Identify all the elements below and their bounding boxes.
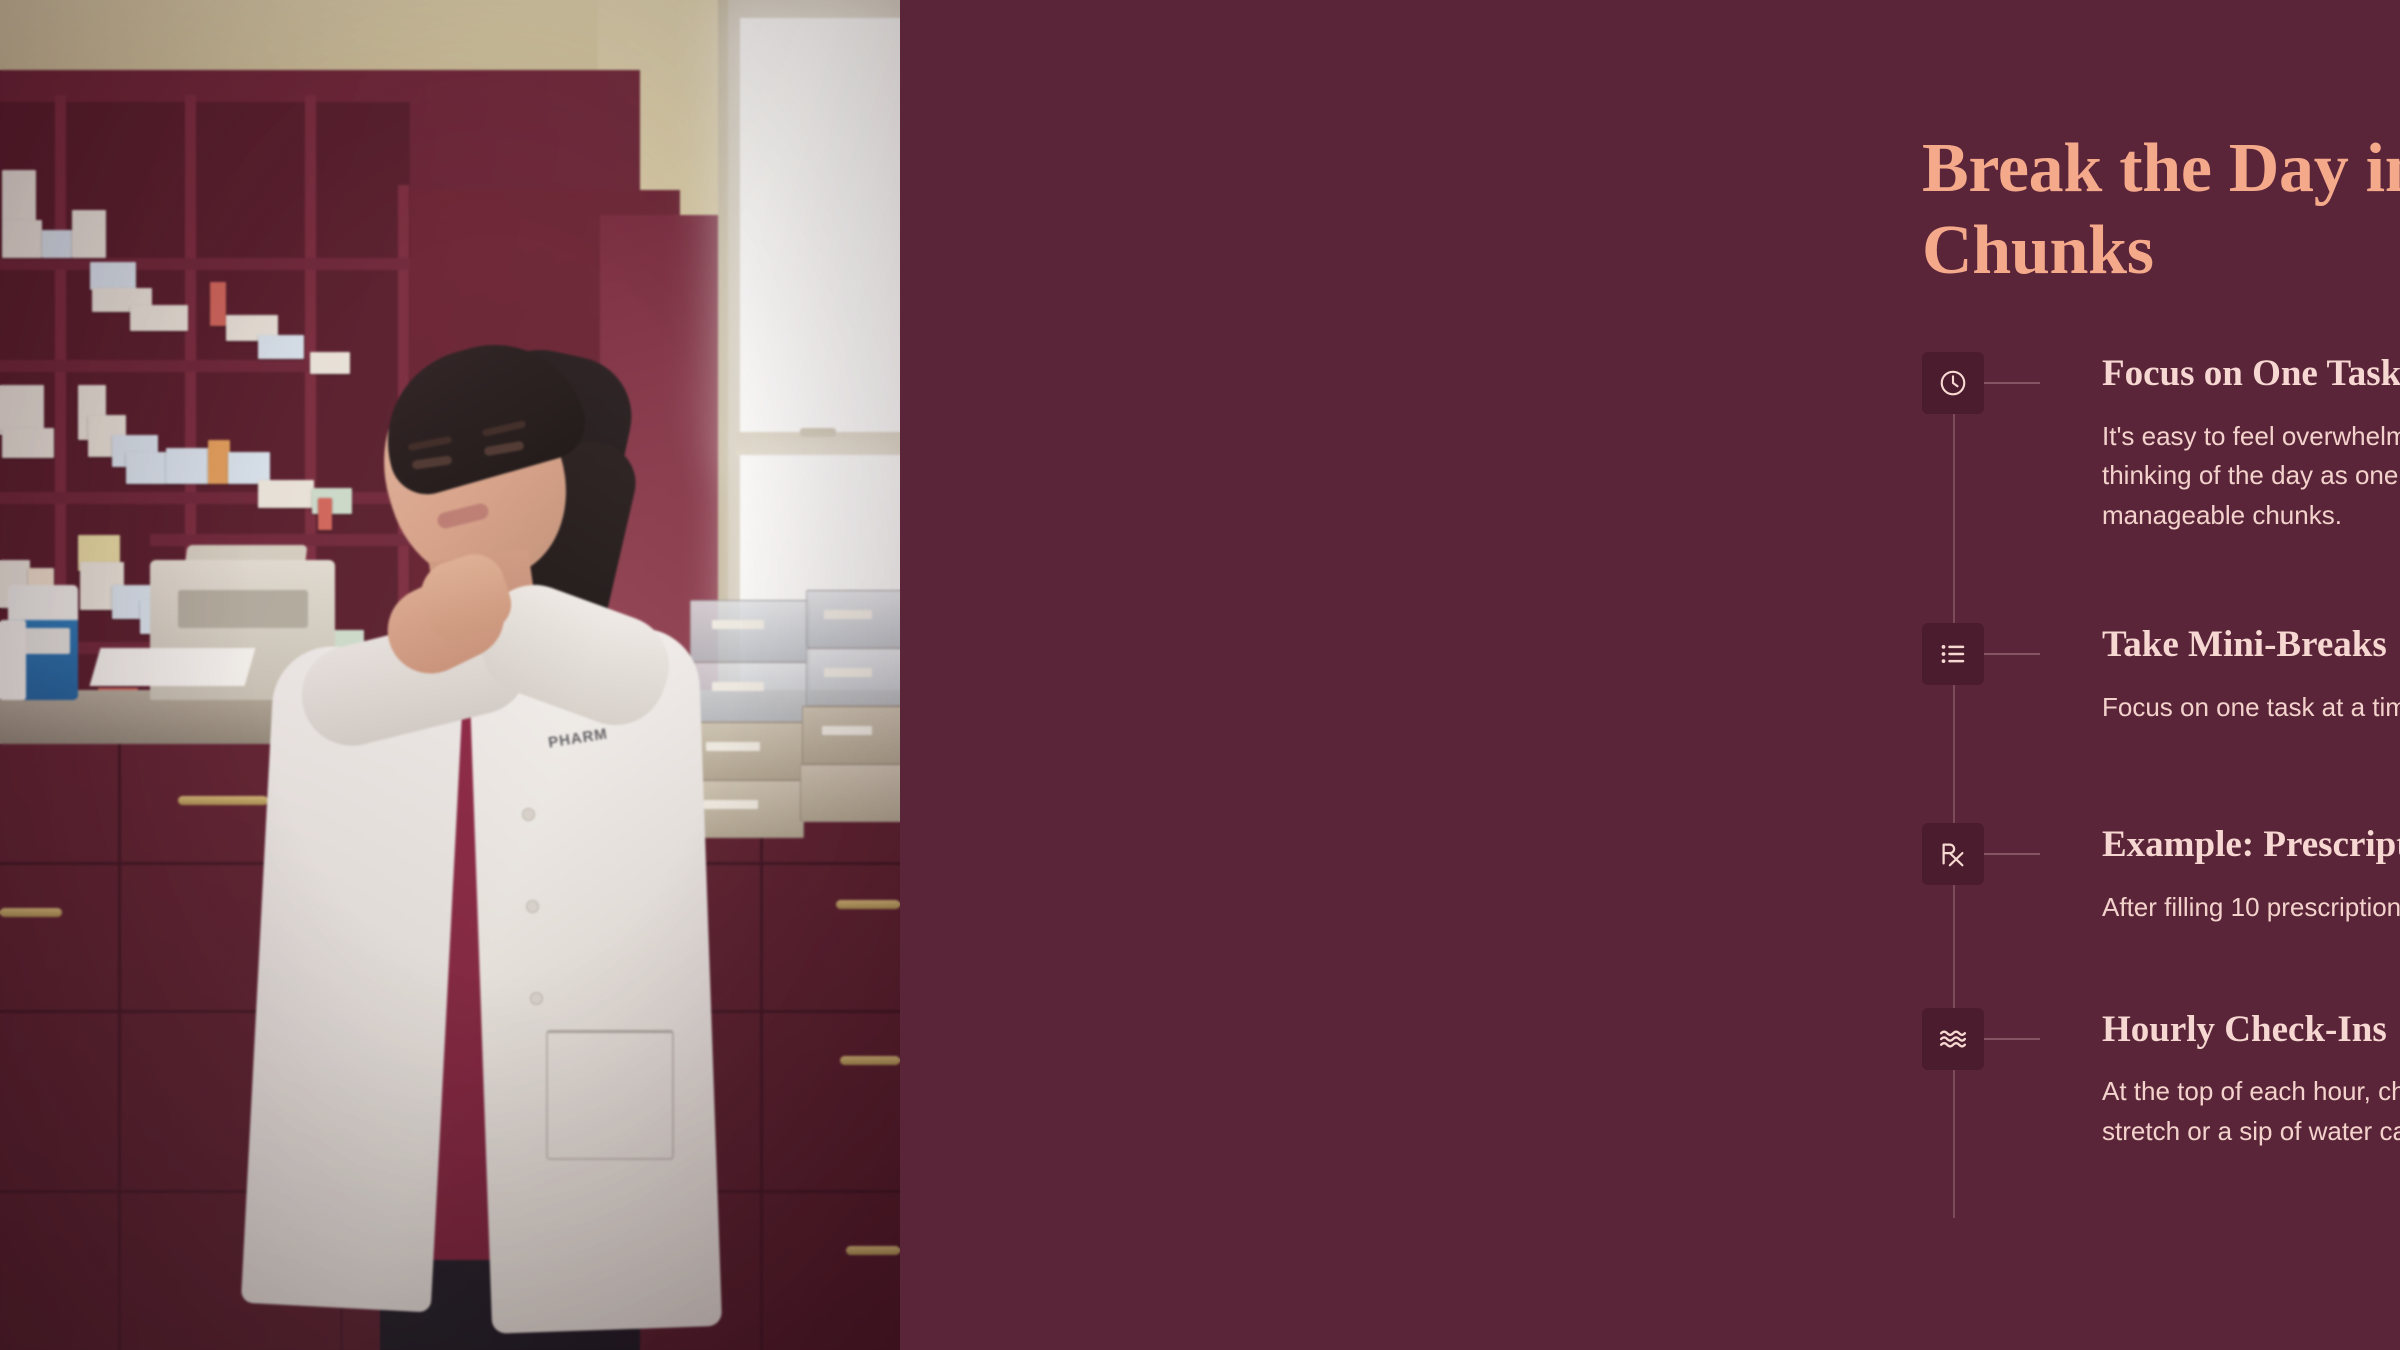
bin-label xyxy=(712,682,764,691)
timeline-item-body: Example: Prescription Breaks After filli… xyxy=(2102,823,2400,927)
content-panel: Break the Day into Manageable Chunks Foc… xyxy=(900,0,2400,1350)
medication-box xyxy=(210,282,226,326)
timeline-item-heading: Focus on One Task xyxy=(2102,354,2400,395)
timeline-item-description: It's easy to feel overwhelmed by a long … xyxy=(2102,417,2400,536)
timeline-item-description: At the top of each hour, check in with y… xyxy=(2102,1072,2400,1151)
bin-label xyxy=(706,742,760,751)
bin-label xyxy=(704,800,758,809)
waves-icon xyxy=(1938,1024,1968,1054)
timeline-item-description: After filling 10 prescriptions, take a 2… xyxy=(2102,888,2400,928)
storage-bin xyxy=(806,648,900,706)
timeline-item-heading: Hourly Check-Ins xyxy=(2102,1010,2400,1051)
storage-bin xyxy=(802,706,900,764)
cabinet-seam xyxy=(118,744,121,1350)
coat-button xyxy=(526,900,539,913)
medication-box xyxy=(2,428,54,458)
cabinet-handle xyxy=(840,1056,900,1065)
slide-root: PHARM Break the Day into Manageable Chun… xyxy=(0,0,2400,1350)
timeline-item-take-mini-breaks[interactable]: Take Mini-Breaks Focus on one task at a … xyxy=(1922,623,2400,727)
page-title: Break the Day into Manageable Chunks xyxy=(1922,128,2400,292)
timeline-connector xyxy=(1984,853,2040,855)
pharmacist-photo: PHARM xyxy=(0,0,900,1350)
storage-bin xyxy=(806,590,900,648)
timeline-item-focus-on-one-task[interactable]: Focus on One Task It's easy to feel over… xyxy=(1922,352,2400,535)
timeline-connector xyxy=(1984,1038,2040,1040)
timeline-item-body: Take Mini-Breaks Focus on one task at a … xyxy=(2102,623,2400,727)
clock-icon xyxy=(1938,368,1968,398)
timeline-item-description: Focus on one task at a time and give you… xyxy=(2102,688,2400,728)
pharmacist-figure: PHARM xyxy=(150,330,710,1350)
bin-label xyxy=(712,620,764,629)
window-sash-notch xyxy=(800,428,836,437)
spacer xyxy=(1922,727,2400,823)
medication-box xyxy=(42,230,72,258)
waves-icon-tile xyxy=(1922,1008,1984,1070)
white-bottle xyxy=(0,620,26,700)
coat-button xyxy=(522,808,535,821)
medication-box xyxy=(72,210,106,258)
cabinet-handle xyxy=(836,900,900,909)
spacer xyxy=(1922,535,2400,623)
window-pane-upper xyxy=(740,18,900,438)
timeline-item-body: Hourly Check-Ins At the top of each hour… xyxy=(2102,1008,2400,1152)
cabinet-handle xyxy=(846,1246,900,1255)
timeline-connector xyxy=(1984,382,2040,384)
timeline-item-heading: Example: Prescription Breaks xyxy=(2102,825,2400,866)
cabinet-handle xyxy=(0,908,62,917)
medication-box xyxy=(130,305,188,331)
shelf-board xyxy=(0,258,410,270)
timeline-item-body: Focus on One Task It's easy to feel over… xyxy=(2102,352,2400,535)
bin-label xyxy=(824,610,872,619)
timeline-item-heading: Take Mini-Breaks xyxy=(2102,625,2400,666)
bin-label xyxy=(822,726,872,735)
medication-box xyxy=(2,220,42,258)
timeline-connector xyxy=(1984,653,2040,655)
timeline-item-prescription-breaks[interactable]: Example: Prescription Breaks After filli… xyxy=(1922,823,2400,927)
timeline-item-hourly-check-ins[interactable]: Hourly Check-Ins At the top of each hour… xyxy=(1922,1008,2400,1152)
clock-icon-tile xyxy=(1922,352,1984,414)
list-icon xyxy=(1938,639,1968,669)
timeline-list: Focus on One Task It's easy to feel over… xyxy=(1922,352,2400,1151)
coat-button xyxy=(530,992,543,1005)
spacer xyxy=(1922,928,2400,1008)
prescription-rx-icon-tile xyxy=(1922,823,1984,885)
medication-box xyxy=(90,262,136,290)
storage-bin xyxy=(800,764,900,822)
bin-label xyxy=(824,668,872,677)
list-icon-tile xyxy=(1922,623,1984,685)
photo-scene: PHARM xyxy=(0,0,900,1350)
lab-coat-pocket xyxy=(546,1030,674,1160)
prescription-rx-icon xyxy=(1938,839,1968,869)
